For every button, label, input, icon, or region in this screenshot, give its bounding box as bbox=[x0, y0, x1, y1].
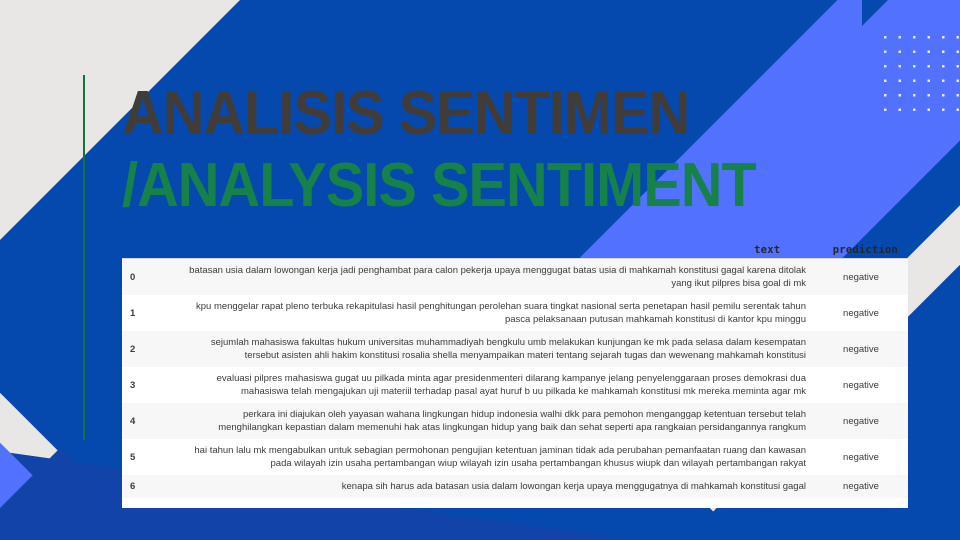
table-row: 4perkara ini diajukan oleh yayasan wahan… bbox=[122, 403, 908, 439]
row-index: 1 bbox=[122, 295, 168, 331]
title-line-primary: ANALISIS SENTIMEN bbox=[122, 78, 756, 150]
blue-top-corner-shape bbox=[862, 0, 888, 26]
row-index: 6 bbox=[122, 475, 168, 498]
row-text: kenapa sih harus ada batasan usia dalam … bbox=[168, 475, 814, 498]
row-prediction: negative bbox=[814, 475, 908, 498]
row-index: 0 bbox=[122, 259, 168, 295]
row-prediction: negative bbox=[814, 367, 908, 403]
column-header-prediction: prediction bbox=[833, 244, 898, 256]
row-text: evaluasi pilpres mahasiswa gugat uu pilk… bbox=[168, 367, 814, 403]
row-text: batasan usia dalam lowongan kerja jadi p… bbox=[168, 259, 814, 295]
row-text: kpu menggelar rapat pleno terbuka rekapi… bbox=[168, 295, 814, 331]
row-index: 3 bbox=[122, 367, 168, 403]
row-prediction: negative bbox=[814, 331, 908, 367]
table-row: 0batasan usia dalam lowongan kerja jadi … bbox=[122, 259, 908, 295]
table-bottom-padding bbox=[122, 498, 908, 508]
row-text: perkara ini diajukan oleh yayasan wahana… bbox=[168, 403, 814, 439]
table-row: 3evaluasi pilpres mahasiswa gugat uu pil… bbox=[122, 367, 908, 403]
table-column-headers: text prediction bbox=[122, 244, 908, 256]
table-row: 6kenapa sih harus ada batasan usia dalam… bbox=[122, 475, 908, 498]
table-row: 1kpu menggelar rapat pleno terbuka rekap… bbox=[122, 295, 908, 331]
table-row: 5hai tahun lalu mk mengabulkan untuk seb… bbox=[122, 439, 908, 475]
dot-grid-pattern bbox=[876, 28, 960, 116]
row-index: 4 bbox=[122, 403, 168, 439]
title-line-secondary: /ANALYSIS SENTIMENT bbox=[122, 150, 756, 222]
green-vertical-rule bbox=[83, 75, 85, 440]
slide-canvas: ANALISIS SENTIMEN /ANALYSIS SENTIMENT te… bbox=[0, 0, 960, 540]
page-title: ANALISIS SENTIMEN /ANALYSIS SENTIMENT bbox=[122, 78, 803, 222]
row-prediction: negative bbox=[814, 439, 908, 475]
dataframe-body: 0batasan usia dalam lowongan kerja jadi … bbox=[122, 259, 908, 498]
column-header-text: text bbox=[754, 244, 780, 256]
dataframe-table: text prediction 0batasan usia dalam lowo… bbox=[122, 258, 908, 508]
row-index: 5 bbox=[122, 439, 168, 475]
table-row: 2sejumlah mahasiswa fakultas hukum unive… bbox=[122, 331, 908, 367]
row-text: sejumlah mahasiswa fakultas hukum univer… bbox=[168, 331, 814, 367]
row-text: hai tahun lalu mk mengabulkan untuk seba… bbox=[168, 439, 814, 475]
row-prediction: negative bbox=[814, 403, 908, 439]
row-prediction: negative bbox=[814, 259, 908, 295]
row-index: 2 bbox=[122, 331, 168, 367]
row-prediction: negative bbox=[814, 295, 908, 331]
